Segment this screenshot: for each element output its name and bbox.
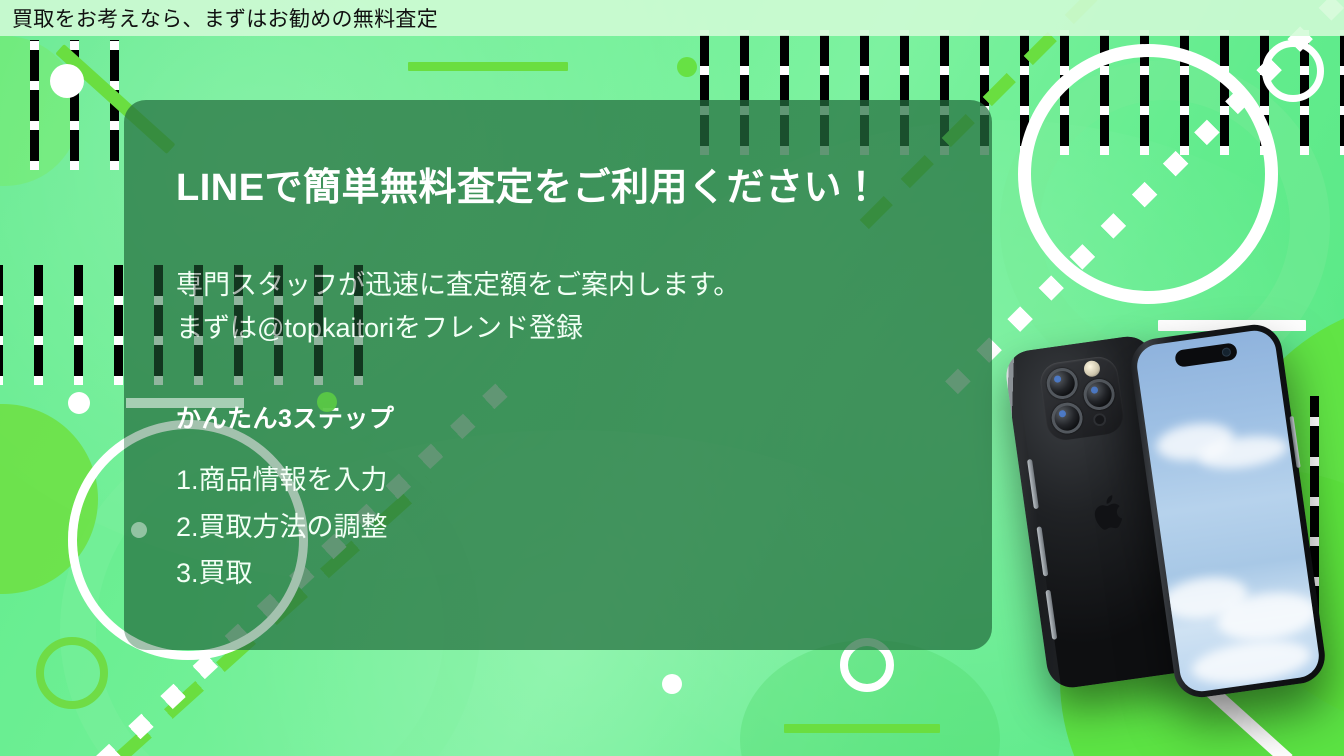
dot-grid-top-left	[0, 40, 120, 170]
camera-bump	[1038, 354, 1126, 442]
lime-dot-top-center	[677, 57, 697, 77]
phone-mockup-group	[1004, 330, 1344, 756]
lidar-sensor-icon	[1092, 412, 1107, 427]
volume-button	[1036, 526, 1048, 576]
steps-heading: かんたん3ステップ	[176, 399, 940, 435]
dynamic-island	[1174, 342, 1238, 367]
lime-bar-top	[408, 62, 568, 71]
top-announcement-text: 買取をお考えなら、まずはお勧めの無料査定	[0, 3, 438, 33]
card-lead-text: 専門スタッフが迅速に査定額をご案内します。 まずは@topkaitoriをフレン…	[176, 264, 940, 351]
step-item: 2.買取方法の調整	[176, 504, 940, 550]
front-camera-icon	[1221, 347, 1231, 357]
cloud-shape	[1189, 634, 1313, 690]
white-ring-large-top-right	[1018, 44, 1278, 304]
volume-button	[1027, 459, 1039, 509]
white-dot-top-left	[50, 64, 84, 98]
top-announcement-bar: 買取をお考えなら、まずはお勧めの無料査定	[0, 0, 1344, 36]
card-title: LINEで簡単無料査定をご利用ください！	[176, 144, 940, 212]
white-dot-middle-left	[68, 392, 90, 414]
white-dot-bottom-center	[662, 674, 682, 694]
lime-bar-bottom	[784, 724, 940, 733]
camera-flash-icon	[1083, 360, 1101, 378]
step-item: 1.商品情報を入力	[176, 457, 940, 503]
power-button	[1045, 590, 1057, 640]
banner-canvas: LINEで簡単無料査定をご利用ください！ 専門スタッフが迅速に査定額をご案内しま…	[0, 0, 1344, 756]
camera-lens-icon	[1082, 377, 1117, 412]
card-lead-line-1: 専門スタッフが迅速に査定額をご案内します。	[176, 264, 940, 308]
card-lead-line-2: まずは@topkaitoriをフレンド登録	[176, 307, 940, 351]
step-item: 3.買取	[176, 550, 940, 596]
camera-lens-icon	[1045, 366, 1080, 401]
steps-list: 1.商品情報を入力 2.買取方法の調整 3.買取	[176, 457, 940, 596]
white-ring-small-top-right	[1262, 40, 1324, 102]
lime-ring-bottom-left	[36, 637, 108, 709]
promo-card: LINEで簡単無料査定をご利用ください！ 専門スタッフが迅速に査定額をご案内しま…	[124, 100, 992, 650]
camera-lens-icon	[1050, 401, 1085, 436]
apple-logo-icon	[1091, 490, 1130, 534]
